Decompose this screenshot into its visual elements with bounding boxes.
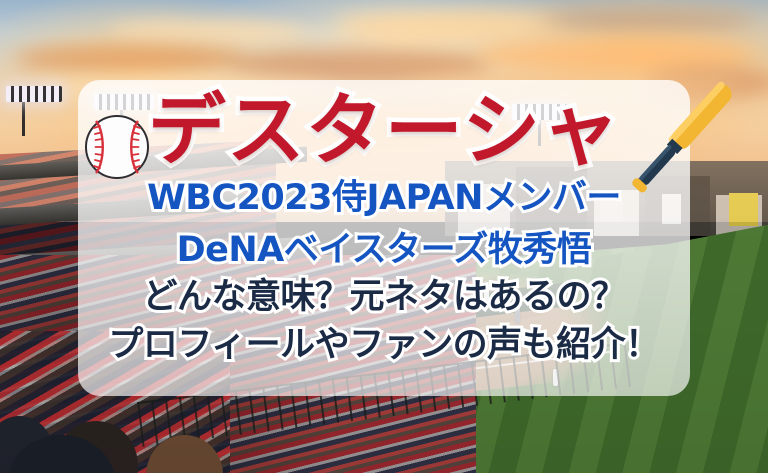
subtitle-line-1: WBC2023侍JAPANメンバー <box>147 176 621 222</box>
subtitle-line-3: どんな意味？元ネタはあるの？ <box>142 275 625 321</box>
page-title: デスターシャ <box>148 92 620 170</box>
subtitle-line-4: プロフィールやファンの声も紹介！ <box>108 323 659 369</box>
eyecatch-image: デスターシャ WBC2023侍JAPANメンバー DeNAベイスターズ牧秀悟 ど… <box>0 0 768 473</box>
eyecatch-text-block: デスターシャ WBC2023侍JAPANメンバー DeNAベイスターズ牧秀悟 ど… <box>78 80 690 396</box>
subtitle-line-2: DeNAベイスターズ牧秀悟 <box>177 228 592 274</box>
